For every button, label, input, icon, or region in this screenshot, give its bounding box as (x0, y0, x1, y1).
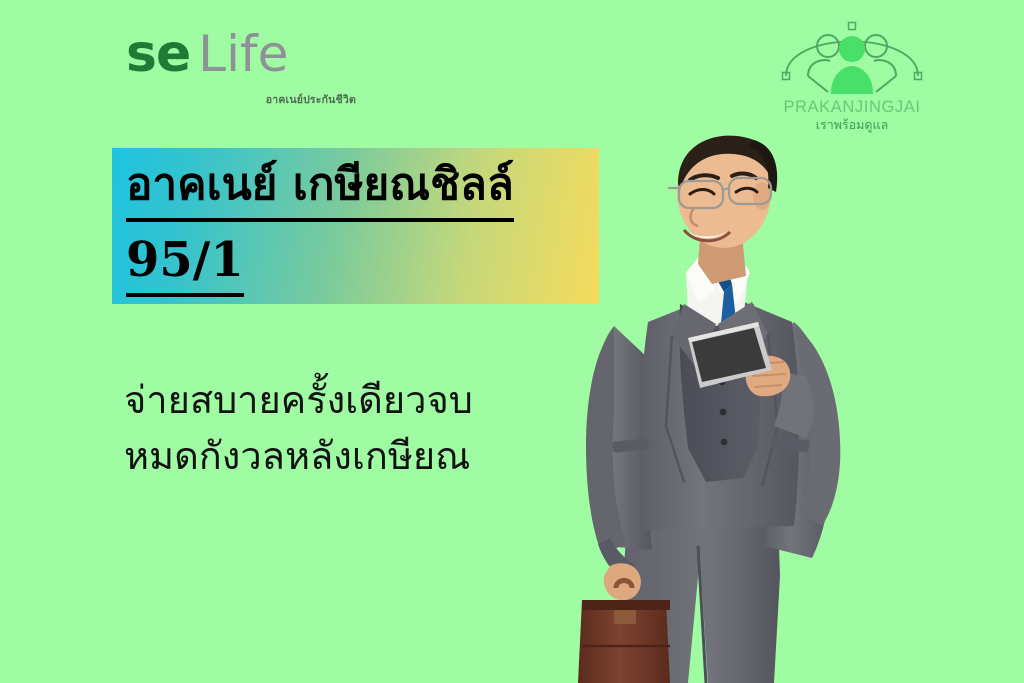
headline-product-name: อาคเนย์ เกษียณชิลล์ (126, 154, 514, 222)
businessman-photo (548, 126, 888, 683)
prakanjingjai-name: PRAKANJINGJAI (772, 98, 932, 116)
prakanjingjai-brand-logo: PRAKANJINGJAI เราพร้อมดูแล (772, 14, 932, 134)
waistcoat-button (720, 409, 727, 416)
three-people-arc-icon (772, 14, 932, 98)
selife-brand-logo: se Life อาคเนย์ประกันชีวิต (126, 28, 356, 114)
subtitle-block: จ่ายสบายครั้งเดียวจบ หมดกังวลหลังเกษียณ (124, 372, 594, 484)
subtitle-line-2: หมดกังวลหลังเกษียณ (124, 428, 594, 484)
selife-logo-se: se (126, 28, 190, 80)
selife-wordmark: se Life (126, 28, 356, 86)
headline-product-code: 95/1 (126, 228, 244, 297)
businessman-illustration (548, 126, 888, 683)
briefcase-latch (614, 610, 636, 624)
waistcoat-button (721, 439, 728, 446)
selife-logo-life: Life (198, 29, 288, 79)
poster-canvas: se Life อาคเนย์ประกันชีวิต PRAKANJI (0, 0, 1024, 683)
selife-logo-tagline: อาคเนย์ประกันชีวิต (126, 91, 356, 108)
subtitle-line-1: จ่ายสบายครั้งเดียวจบ (124, 372, 594, 428)
headline-banner: อาคเนย์ เกษียณชิลล์ 95/1 (112, 148, 599, 304)
